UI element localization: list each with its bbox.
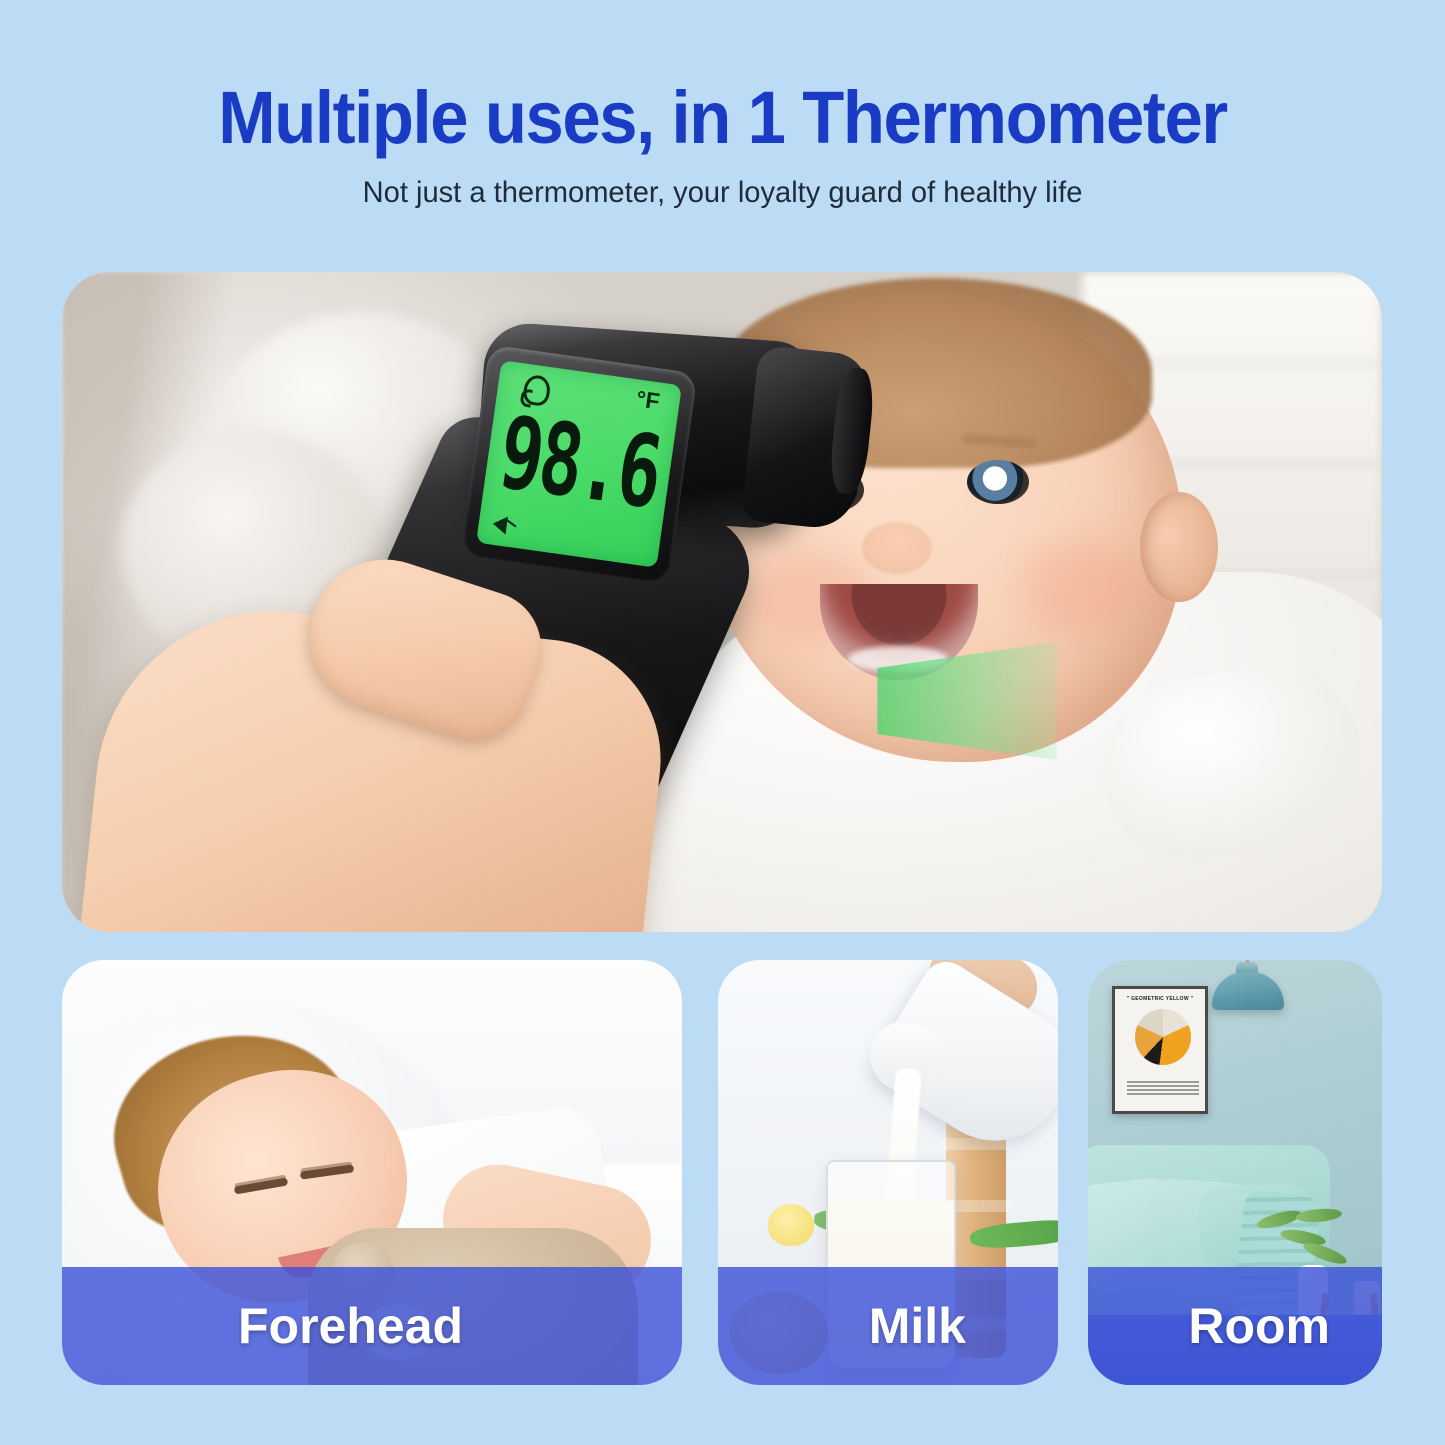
baby-eye <box>967 460 1029 504</box>
card-label-band: Room <box>1088 1267 1382 1385</box>
card-label-room: Room <box>1188 1297 1330 1355</box>
temperature-unit: °F <box>635 387 661 413</box>
temperature-reading: 98.6 <box>488 395 670 532</box>
page-title: Multiple uses, in 1 Thermometer <box>51 75 1395 160</box>
hero-photo: °F 98.6 hem × <box>62 272 1382 932</box>
card-milk[interactable]: Milk <box>718 960 1058 1385</box>
card-label-milk: Milk <box>869 1297 966 1355</box>
poster-text-lines <box>1127 1081 1199 1097</box>
card-label-band: Milk <box>718 1267 1058 1385</box>
framed-poster: " GEOMETRIC YELLOW " <box>1112 986 1208 1114</box>
yellow-tulip <box>768 1204 814 1246</box>
lcd-screen: °F 98.6 <box>476 360 682 568</box>
baby-nose <box>862 522 932 574</box>
baby-ear <box>1140 492 1218 602</box>
poster-graphic <box>1135 1009 1191 1065</box>
thermometer-device: °F 98.6 hem × <box>222 322 842 932</box>
page-subtitle: Not just a thermometer, your loyalty gua… <box>22 176 1424 210</box>
use-case-cards: Forehead Milk " GEOMETRIC YELLOW " <box>62 960 1382 1385</box>
card-room[interactable]: " GEOMETRIC YELLOW " Room <box>1088 960 1382 1385</box>
card-label-forehead: Forehead <box>238 1297 463 1355</box>
baby-cheek <box>1022 542 1142 632</box>
card-forehead[interactable]: Forehead <box>62 960 682 1385</box>
card-label-band: Forehead <box>62 1267 682 1385</box>
lcd-bezel: °F 98.6 <box>460 344 697 583</box>
poster-title: " GEOMETRIC YELLOW " <box>1115 996 1205 1002</box>
header: Multiple uses, in 1 Thermometer Not just… <box>0 0 1445 250</box>
speaker-mute-icon <box>492 515 508 535</box>
